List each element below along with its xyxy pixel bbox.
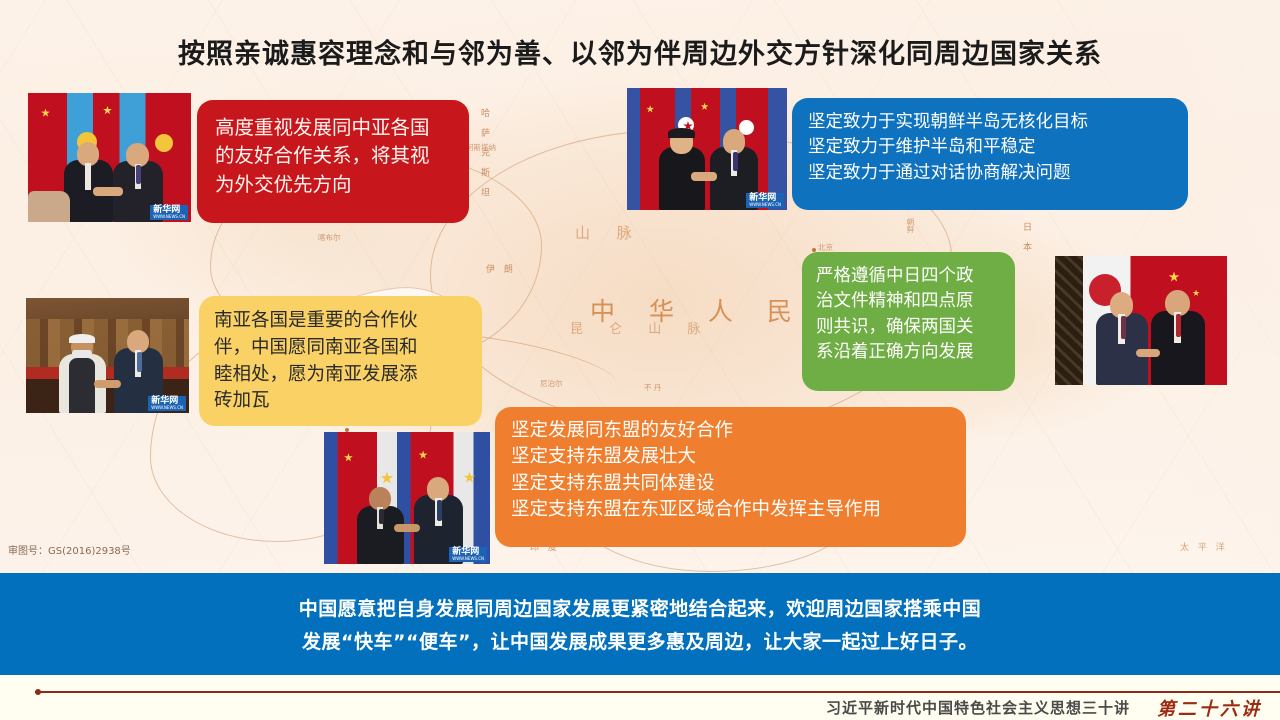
slide-footer: 习近平新时代中国特色社会主义思想三十讲 第二十六讲	[0, 675, 1280, 720]
callout-line: 睦相处，愿为南亚发展添	[214, 362, 467, 389]
callout-line: 严格遵循中日四个政	[816, 264, 1001, 289]
callout-line: 坚定致力于通过对话协商解决问题	[808, 161, 1172, 186]
callout-japan[interactable]: 严格遵循中日四个政 治文件精神和四点原 则共识，确保两国关 系沿着正确方向发展	[802, 252, 1015, 391]
callout-line: 系沿着正确方向发展	[816, 340, 1001, 365]
callout-line: 坚定支持东盟发展壮大	[511, 444, 950, 470]
callout-korean-peninsula[interactable]: 坚定致力于实现朝鲜半岛无核化目标 坚定致力于维护半岛和平稳定 坚定致力于通过对话…	[792, 98, 1188, 210]
photo-xi-abe	[1055, 256, 1227, 385]
callout-line: 治文件精神和四点原	[816, 289, 1001, 314]
summary-banner: 中国愿意把自身发展同周边国家发展更紧密地结合起来，欢迎周边国家搭乘中国 发展“快…	[0, 573, 1280, 675]
callout-line: 坚定致力于实现朝鲜半岛无核化目标	[808, 110, 1172, 135]
footer-divider	[35, 691, 1280, 693]
photo-xi-kazakhstan: 新华网WWW.NEWS.CN	[28, 93, 191, 222]
banner-line-2: 发展“快车”“便车”，让中国发展成果更多惠及周边，让大家一起过上好日子。	[302, 627, 978, 654]
banner-line-1: 中国愿意把自身发展同周边国家发展更紧密地结合起来，欢迎周边国家搭乘中国	[299, 594, 982, 621]
photo-xi-duterte: 新华网WWW.NEWS.CN	[324, 432, 490, 564]
photo-xi-modi: 新华网WWW.NEWS.CN	[26, 298, 189, 413]
photo-watermark: 新华网WWW.NEWS.CN	[150, 205, 188, 220]
callout-line: 坚定发展同东盟的友好合作	[511, 418, 950, 444]
callout-asean[interactable]: 坚定发展同东盟的友好合作 坚定支持东盟发展壮大 坚定支持东盟共同体建设 坚定支持…	[495, 407, 966, 547]
photo-watermark: 新华网WWW.NEWS.CN	[148, 396, 186, 411]
callout-line: 则共识，确保两国关	[816, 315, 1001, 340]
callout-line: 坚定支持东盟在东亚区域合作中发挥主导作用	[511, 497, 950, 523]
callout-line: 南亚各国是重要的合作伙	[214, 308, 467, 335]
photo-watermark: 新华网WWW.NEWS.CN	[449, 547, 487, 562]
callout-line: 砖加瓦	[214, 388, 467, 415]
footer-series-title: 习近平新时代中国特色社会主义思想三十讲	[826, 697, 1130, 718]
callout-line: 高度重视发展同中亚各国	[215, 114, 451, 142]
callout-line: 的友好合作关系，将其视	[215, 142, 451, 170]
photo-xi-kim-jongun: 新华网WWW.NEWS.CN	[627, 88, 787, 210]
footer-lecture-number: 第二十六讲	[1157, 695, 1262, 720]
slide-canvas: 中 华 人 民 共 和 国 山 脉 昆 仑 山 脉 哈 萨 克 斯 坦 阿斯塔纳…	[0, 0, 1280, 720]
callout-line: 坚定支持东盟共同体建设	[511, 471, 950, 497]
map-approval-number: 审图号：GS(2016)2938号	[8, 542, 131, 557]
callout-central-asia[interactable]: 高度重视发展同中亚各国 的友好合作关系，将其视 为外交优先方向	[197, 100, 469, 223]
callout-line: 为外交优先方向	[215, 171, 451, 199]
callout-line: 伴，中国愿同南亚各国和	[214, 335, 467, 362]
slide-title: 按照亲诚惠容理念和与邻为善、以邻为伴周边外交方针深化同周边国家关系	[0, 32, 1280, 71]
callout-line: 坚定致力于维护半岛和平稳定	[808, 135, 1172, 160]
photo-watermark: 新华网WWW.NEWS.CN	[746, 193, 784, 208]
callout-south-asia[interactable]: 南亚各国是重要的合作伙 伴，中国愿同南亚各国和 睦相处，愿为南亚发展添 砖加瓦	[199, 296, 482, 426]
